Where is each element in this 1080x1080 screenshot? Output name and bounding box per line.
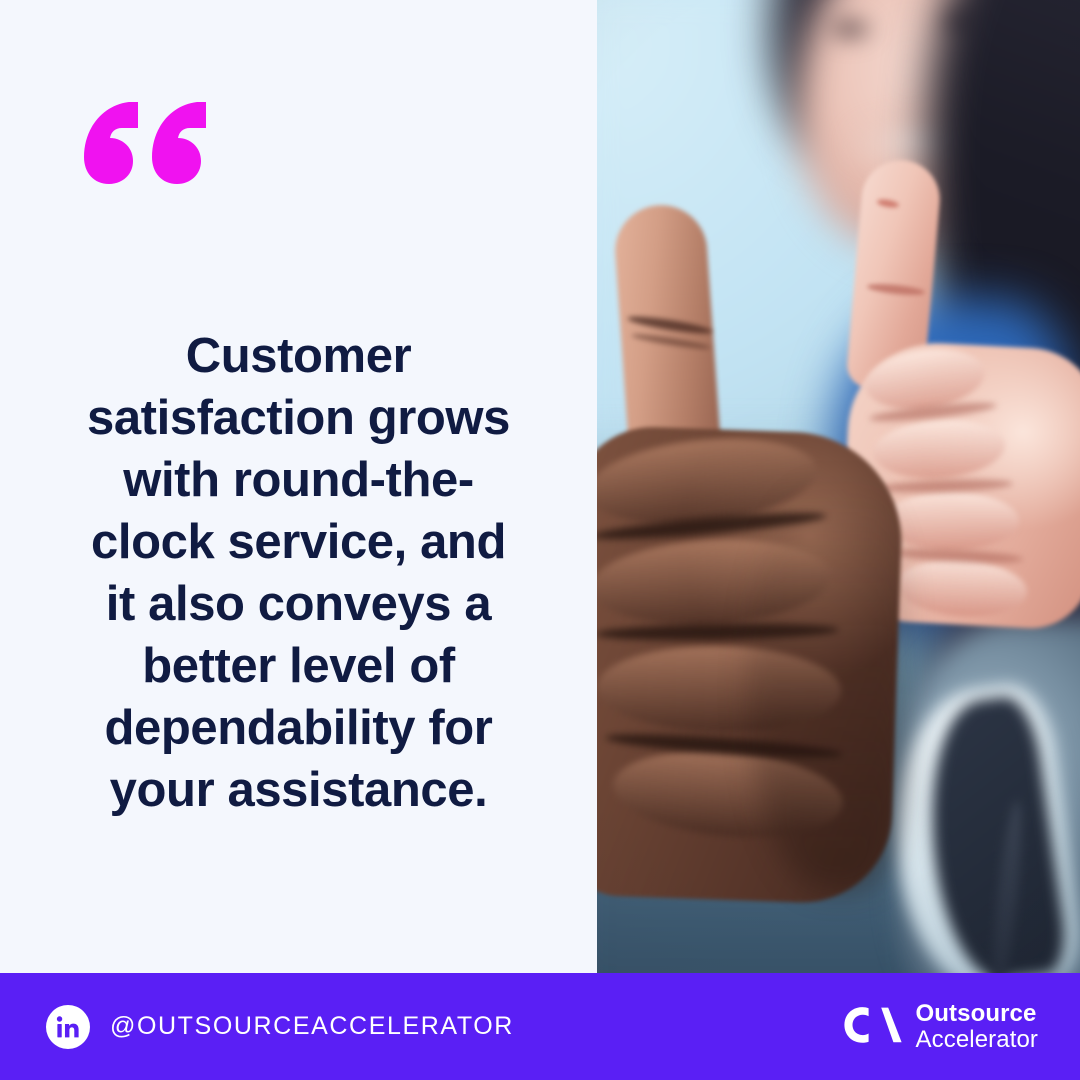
quote-line: your assistance.	[36, 759, 561, 821]
outsource-accelerator-logo-icon	[844, 1006, 902, 1048]
photo-vignette	[597, 0, 1080, 973]
brand-wordmark: Outsource Accelerator	[916, 1001, 1038, 1052]
quote-line: dependability for	[36, 697, 561, 759]
quote-line: satisfaction grows	[36, 387, 561, 449]
quote-line: it also conveys a	[36, 573, 561, 635]
brand-line-1: Outsource	[916, 1001, 1038, 1026]
quote-text: Customer satisfaction grows with round-t…	[36, 325, 561, 821]
footer-bar: @OUTSOURCEACCELERATOR Outsource Accelera…	[0, 973, 1080, 1080]
quote-line: clock service, and	[36, 511, 561, 573]
brand-line-2: Accelerator	[916, 1027, 1038, 1052]
quote-line: with round-the-	[36, 449, 561, 511]
quote-line: Customer	[36, 325, 561, 387]
brand-logo-group[interactable]: Outsource Accelerator	[844, 973, 1038, 1080]
linkedin-handle[interactable]: @OUTSOURCEACCELERATOR	[110, 1012, 514, 1041]
double-quote-open-icon	[84, 100, 206, 186]
linkedin-icon[interactable]	[46, 1005, 90, 1049]
quote-card: Customer satisfaction grows with round-t…	[0, 0, 1080, 1080]
quote-panel: Customer satisfaction grows with round-t…	[0, 0, 597, 973]
social-handle-group[interactable]: @OUTSOURCEACCELERATOR	[46, 973, 514, 1080]
thumbs-up-photo	[597, 0, 1080, 973]
quote-line: better level of	[36, 635, 561, 697]
